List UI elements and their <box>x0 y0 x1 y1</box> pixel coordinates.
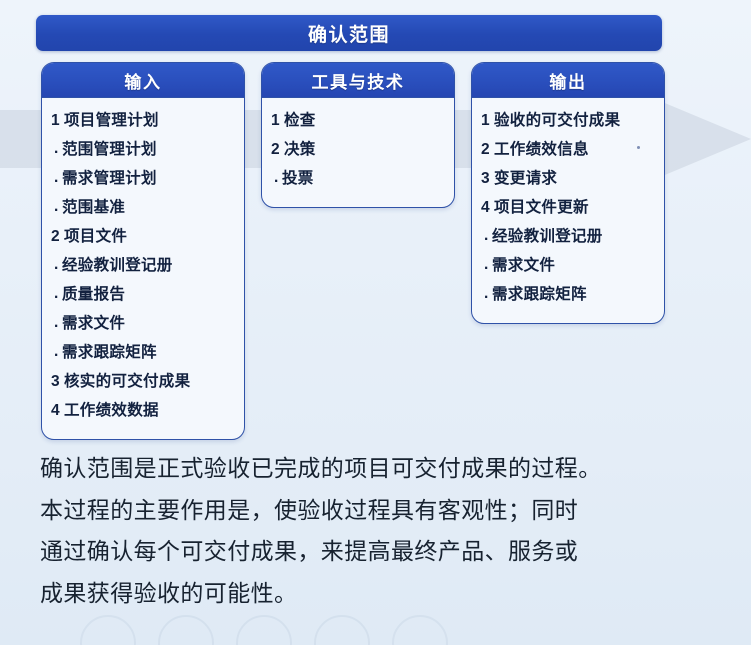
list-item-label: 需求文件 <box>492 253 555 275</box>
stray-artifact-dot <box>637 146 640 149</box>
list-item-label: 决策 <box>284 137 316 159</box>
list-item-label: 投票 <box>282 166 314 188</box>
list-item-label: 验收的可交付成果 <box>494 108 620 130</box>
list-item-label: 经验教训登记册 <box>492 224 603 246</box>
list-item-label: 项目文件 <box>64 224 127 246</box>
list-item-marker: 2 <box>271 141 284 159</box>
list-item: 3 核实的可交付成果 <box>42 369 244 398</box>
list-item: 2 项目文件 <box>42 224 244 253</box>
list-item: . 经验教训登记册 <box>472 224 664 253</box>
slide-title-bar: 确认范围 <box>36 15 662 51</box>
list-item: 1 项目管理计划 <box>42 108 244 137</box>
list-item-marker: . <box>54 140 62 158</box>
list-item: . 需求文件 <box>42 311 244 340</box>
column-input-list: 1 项目管理计划 . 范围管理计划 . 需求管理计划 . 范围基准 2 项目文件… <box>42 98 244 439</box>
column-tools-list: 1 检查 2 决策 . 投票 <box>262 98 454 207</box>
list-item-marker: 1 <box>271 112 284 130</box>
list-item-marker: 3 <box>51 373 64 391</box>
list-item-label: 项目管理计划 <box>64 108 159 130</box>
description-line: 本过程的主要作用是，使验收过程具有客观性；同时 <box>40 494 720 527</box>
list-item-label: 工作绩效信息 <box>494 137 589 159</box>
list-item-label: 质量报告 <box>62 282 125 304</box>
list-item: 2 工作绩效信息 <box>472 137 664 166</box>
description-line: 通过确认每个可交付成果，来提高最终产品、服务或 <box>40 535 720 568</box>
column-tools-title: 工具与技术 <box>312 68 405 93</box>
column-output-header: 输出 <box>472 63 664 98</box>
list-item: . 范围基准 <box>42 195 244 224</box>
list-item: . 需求文件 <box>472 253 664 282</box>
list-item-label: 核实的可交付成果 <box>64 369 190 391</box>
list-item-marker: . <box>54 198 62 216</box>
column-input-title: 输入 <box>124 68 161 93</box>
list-item-label: 需求文件 <box>62 311 125 333</box>
list-item-marker: 2 <box>51 228 64 246</box>
list-item: 1 检查 <box>262 108 454 137</box>
list-item: . 投票 <box>262 166 454 195</box>
list-item-marker: . <box>54 285 62 303</box>
list-item-label: 范围管理计划 <box>62 137 157 159</box>
description-line: 成果获得验收的可能性。 <box>40 577 720 610</box>
list-item-marker: 2 <box>481 141 494 159</box>
list-item: . 范围管理计划 <box>42 137 244 166</box>
column-output-title: 输出 <box>549 68 586 93</box>
list-item-marker: . <box>54 314 62 332</box>
list-item-marker: 1 <box>481 112 494 130</box>
list-item-label: 需求跟踪矩阵 <box>492 282 587 304</box>
list-item: 2 决策 <box>262 137 454 166</box>
list-item-label: 工作绩效数据 <box>64 398 159 420</box>
list-item: . 质量报告 <box>42 282 244 311</box>
list-item-marker: . <box>484 256 492 274</box>
list-item-label: 需求管理计划 <box>62 166 157 188</box>
list-item-label: 变更请求 <box>494 166 557 188</box>
list-item: 4 项目文件更新 <box>472 195 664 224</box>
list-item-marker: 4 <box>51 402 64 420</box>
list-item-label: 经验教训登记册 <box>62 253 173 275</box>
list-item: 3 变更请求 <box>472 166 664 195</box>
column-input-header: 输入 <box>42 63 244 98</box>
description-line: 确认范围是正式验收已完成的项目可交付成果的过程。 <box>40 452 720 485</box>
list-item: . 经验教训登记册 <box>42 253 244 282</box>
list-item-marker: . <box>54 343 62 361</box>
list-item: 1 验收的可交付成果 <box>472 108 664 137</box>
list-item-marker: 4 <box>481 199 494 217</box>
list-item-marker: . <box>54 256 62 274</box>
list-item-label: 检查 <box>284 108 316 130</box>
list-item-marker: . <box>484 227 492 245</box>
list-item: . 需求跟踪矩阵 <box>472 282 664 311</box>
list-item: . 需求管理计划 <box>42 166 244 195</box>
list-item: . 需求跟踪矩阵 <box>42 340 244 369</box>
list-item-marker: . <box>484 285 492 303</box>
list-item-label: 需求跟踪矩阵 <box>62 340 157 362</box>
list-item-marker: . <box>54 169 62 187</box>
list-item-marker: . <box>274 169 282 187</box>
list-item-label: 范围基准 <box>62 195 125 217</box>
list-item: 4 工作绩效数据 <box>42 398 244 427</box>
list-item-label: 项目文件更新 <box>494 195 589 217</box>
column-tools-header: 工具与技术 <box>262 63 454 98</box>
column-input: 输入 1 项目管理计划 . 范围管理计划 . 需求管理计划 . 范围基准 2 项… <box>41 62 245 440</box>
column-output: 输出 1 验收的可交付成果 2 工作绩效信息 3 变更请求 4 项目文件更新 .… <box>471 62 665 324</box>
description-paragraph: 确认范围是正式验收已完成的项目可交付成果的过程。 本过程的主要作用是，使验收过程… <box>40 452 720 619</box>
column-tools-and-techniques: 工具与技术 1 检查 2 决策 . 投票 <box>261 62 455 208</box>
list-item-marker: 3 <box>481 170 494 188</box>
column-output-list: 1 验收的可交付成果 2 工作绩效信息 3 变更请求 4 项目文件更新 . 经验… <box>472 98 664 323</box>
list-item-marker: 1 <box>51 112 64 130</box>
slide-canvas: 确认范围 输入 1 项目管理计划 . 范围管理计划 . 需求管理计划 . 范围基… <box>0 0 751 645</box>
page-title: 确认范围 <box>308 20 390 47</box>
